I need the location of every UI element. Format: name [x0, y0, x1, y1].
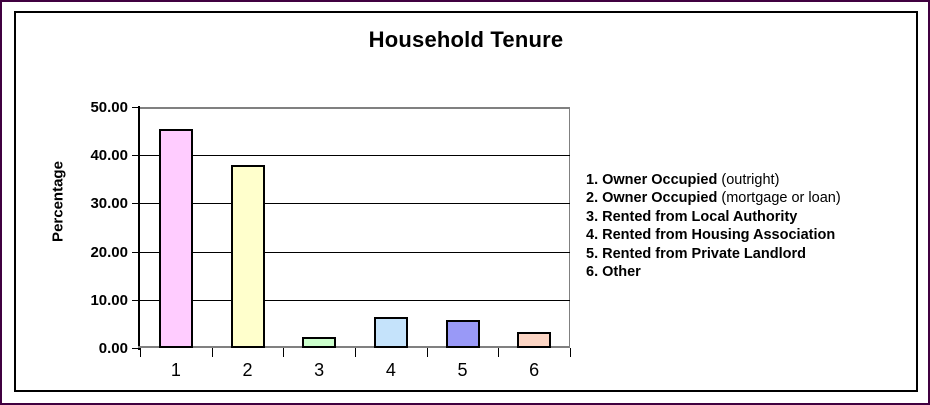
- bar: [231, 165, 265, 348]
- legend-item-label: 6. Other: [586, 264, 641, 280]
- bar: [446, 320, 480, 348]
- x-axis-tick: [355, 348, 356, 357]
- gridline: [140, 252, 570, 253]
- x-axis-tick-label: 5: [443, 361, 483, 379]
- legend-item: 4. Rented from Housing Association: [586, 226, 930, 244]
- y-axis-tick-label: 50.00: [62, 100, 128, 115]
- chart-title: Household Tenure: [16, 27, 916, 53]
- y-axis-tick: [132, 155, 140, 156]
- legend-item: 2. Owner Occupied (mortgage or loan): [586, 189, 930, 207]
- x-axis-tick: [570, 348, 571, 357]
- legend-item-label: 3. Rented from Local Authority: [586, 209, 797, 225]
- legend-item-label: 2. Owner Occupied: [586, 190, 717, 206]
- legend-item-label: 1. Owner Occupied: [586, 172, 717, 188]
- x-axis-tick-label: 1: [156, 361, 196, 379]
- plot-area: [140, 107, 570, 348]
- y-axis-tick-label: 0.00: [62, 341, 128, 356]
- x-axis-tick: [498, 348, 499, 357]
- legend: 1. Owner Occupied (outright)2. Owner Occ…: [586, 171, 930, 281]
- legend-item: 6. Other: [586, 263, 930, 281]
- legend-item: 1. Owner Occupied (outright): [586, 171, 930, 189]
- plot-right-border: [569, 107, 570, 348]
- bar: [302, 337, 336, 348]
- chart-screenshot: Household Tenure Percentage 50.0040.0030…: [0, 0, 930, 405]
- y-axis-tick: [132, 300, 140, 301]
- x-axis-tick-label: 4: [371, 361, 411, 379]
- legend-item-sublabel: (outright): [717, 172, 779, 188]
- bar: [159, 129, 193, 348]
- y-axis-tick-label: 10.00: [62, 293, 128, 308]
- gridline: [140, 155, 570, 156]
- y-axis-tick: [132, 348, 140, 349]
- legend-item-sublabel: (mortgage or loan): [717, 190, 840, 206]
- gridline: [140, 203, 570, 204]
- y-axis-tick: [132, 252, 140, 253]
- x-axis-tick-label: 2: [228, 361, 268, 379]
- y-axis-tick-label: 30.00: [62, 196, 128, 211]
- y-axis-tick-label: 40.00: [62, 148, 128, 163]
- x-axis-tick: [140, 348, 141, 357]
- legend-item-label: 5. Rented from Private Landlord: [586, 246, 806, 262]
- legend-item: 3. Rented from Local Authority: [586, 208, 930, 226]
- y-axis-tick-label: 20.00: [62, 245, 128, 260]
- bar: [374, 317, 408, 348]
- x-axis-tick: [283, 348, 284, 357]
- chart-inner-frame: Household Tenure Percentage 50.0040.0030…: [14, 11, 918, 392]
- y-axis-tick: [132, 203, 140, 204]
- plot-top-border: [140, 107, 570, 109]
- x-axis-tick: [212, 348, 213, 357]
- x-axis-tick-label: 6: [514, 361, 554, 379]
- gridline: [140, 300, 570, 301]
- legend-item-label: 4. Rented from Housing Association: [586, 227, 835, 243]
- x-axis-tick: [427, 348, 428, 357]
- y-axis-tick: [132, 107, 140, 108]
- y-axis-tick-labels: 50.0040.0030.0020.0010.000.00: [58, 13, 128, 405]
- x-axis-tick-label: 3: [299, 361, 339, 379]
- legend-item: 5. Rented from Private Landlord: [586, 245, 930, 263]
- bar: [517, 332, 551, 348]
